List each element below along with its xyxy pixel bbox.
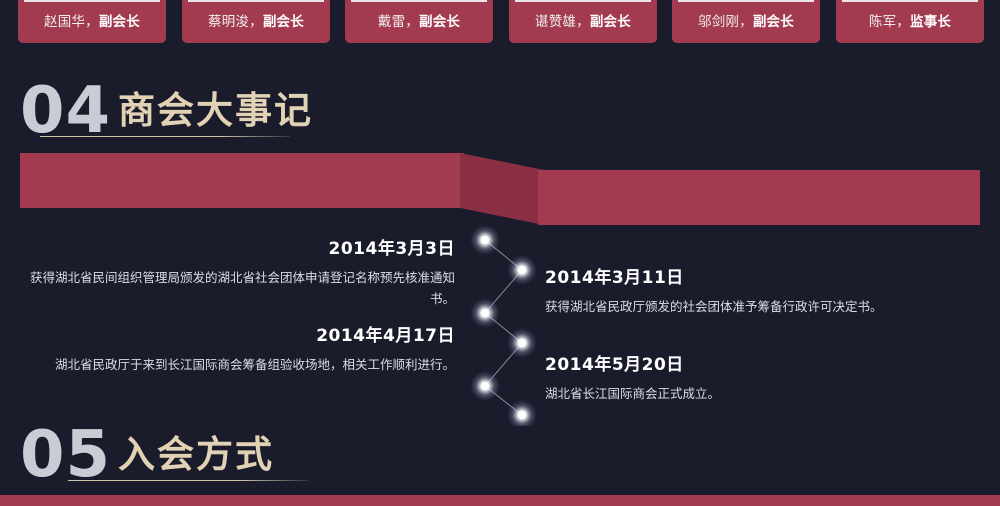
page-title: 入会方式: [118, 426, 274, 484]
timeline-item: 2014年4月17日 湖北省民政厅于来到长江国际商会筹备组验收场地，相关工作顺利…: [30, 325, 455, 376]
ribbon-right-segment: [538, 170, 980, 225]
leader-card-label: 赵国华，副会长: [24, 13, 160, 31]
leader-photo-4: [515, 0, 651, 2]
timeline-description: 获得湖北省民间组织管理局颁发的湖北省社会团体申请登记名称预先核准通知书。: [30, 268, 455, 310]
timeline-description: 湖北省长江国际商会正式成立。: [545, 384, 975, 405]
leader-photo-6: [842, 0, 978, 2]
leader-photo-2: [188, 0, 324, 2]
leader-card-label: 谌赞雄，副会长: [515, 13, 651, 31]
ribbon-fold-shape: [460, 148, 544, 226]
bottom-accent-bar: [0, 495, 1000, 506]
leader-card[interactable]: 谌赞雄，副会长: [509, 0, 657, 43]
leader-card-label: 蔡明浚，副会长: [188, 13, 324, 31]
timeline-item: 2014年3月11日 获得湖北省民政厅颁发的社会团体准予筹备行政许可决定书。: [545, 267, 975, 318]
section-number: 05: [20, 426, 111, 484]
leader-photo-1: [24, 0, 160, 2]
timeline-item: 2014年5月20日 湖北省长江国际商会正式成立。: [545, 354, 975, 405]
ribbon-banner: [0, 148, 1000, 226]
leader-card-label: 戴雷，副会长: [351, 13, 487, 31]
timeline-item: 2014年3月3日 获得湖北省民间组织管理局颁发的湖北省社会团体申请登记名称预先…: [30, 238, 455, 310]
leader-card[interactable]: 陈军，监事长: [836, 0, 984, 43]
timeline-connector-icon: [455, 226, 555, 426]
heading-underline: [40, 136, 290, 137]
leader-card-label: 陈军，监事长: [842, 13, 978, 31]
leader-card-label: 邬剑刚，副会长: [678, 13, 814, 31]
timeline-date: 2014年4月17日: [30, 325, 455, 347]
section-number: 04: [20, 82, 111, 140]
timeline-date: 2014年3月11日: [545, 267, 975, 289]
timeline-description: 获得湖北省民政厅颁发的社会团体准予筹备行政许可决定书。: [545, 297, 975, 318]
leader-cards-row: 赵国华，副会长 蔡明浚，副会长 戴雷，副会长 谌赞雄，副会长 邬剑刚，副会长 陈…: [0, 0, 1000, 48]
timeline-date: 2014年5月20日: [545, 354, 975, 376]
timeline-date: 2014年3月3日: [30, 238, 455, 260]
leader-card[interactable]: 戴雷，副会长: [345, 0, 493, 43]
timeline-description: 湖北省民政厅于来到长江国际商会筹备组验收场地，相关工作顺利进行。: [30, 355, 455, 376]
leader-card[interactable]: 邬剑刚，副会长: [672, 0, 820, 43]
page-root: 赵国华，副会长 蔡明浚，副会长 戴雷，副会长 谌赞雄，副会长 邬剑刚，副会长 陈…: [0, 0, 1000, 506]
page-title: 商会大事记: [118, 82, 313, 140]
leader-photo-3: [351, 0, 487, 2]
heading-underline: [68, 480, 308, 481]
leader-card[interactable]: 赵国华，副会长: [18, 0, 166, 43]
leader-photo-5: [678, 0, 814, 2]
timeline: 2014年3月3日 获得湖北省民间组织管理局颁发的湖北省社会团体申请登记名称预先…: [0, 226, 1000, 426]
leader-card[interactable]: 蔡明浚，副会长: [182, 0, 330, 43]
section-heading-04: 04 商会大事记: [20, 82, 980, 140]
section-heading-05: 05 入会方式: [20, 426, 980, 484]
ribbon-left-segment: [20, 153, 464, 208]
